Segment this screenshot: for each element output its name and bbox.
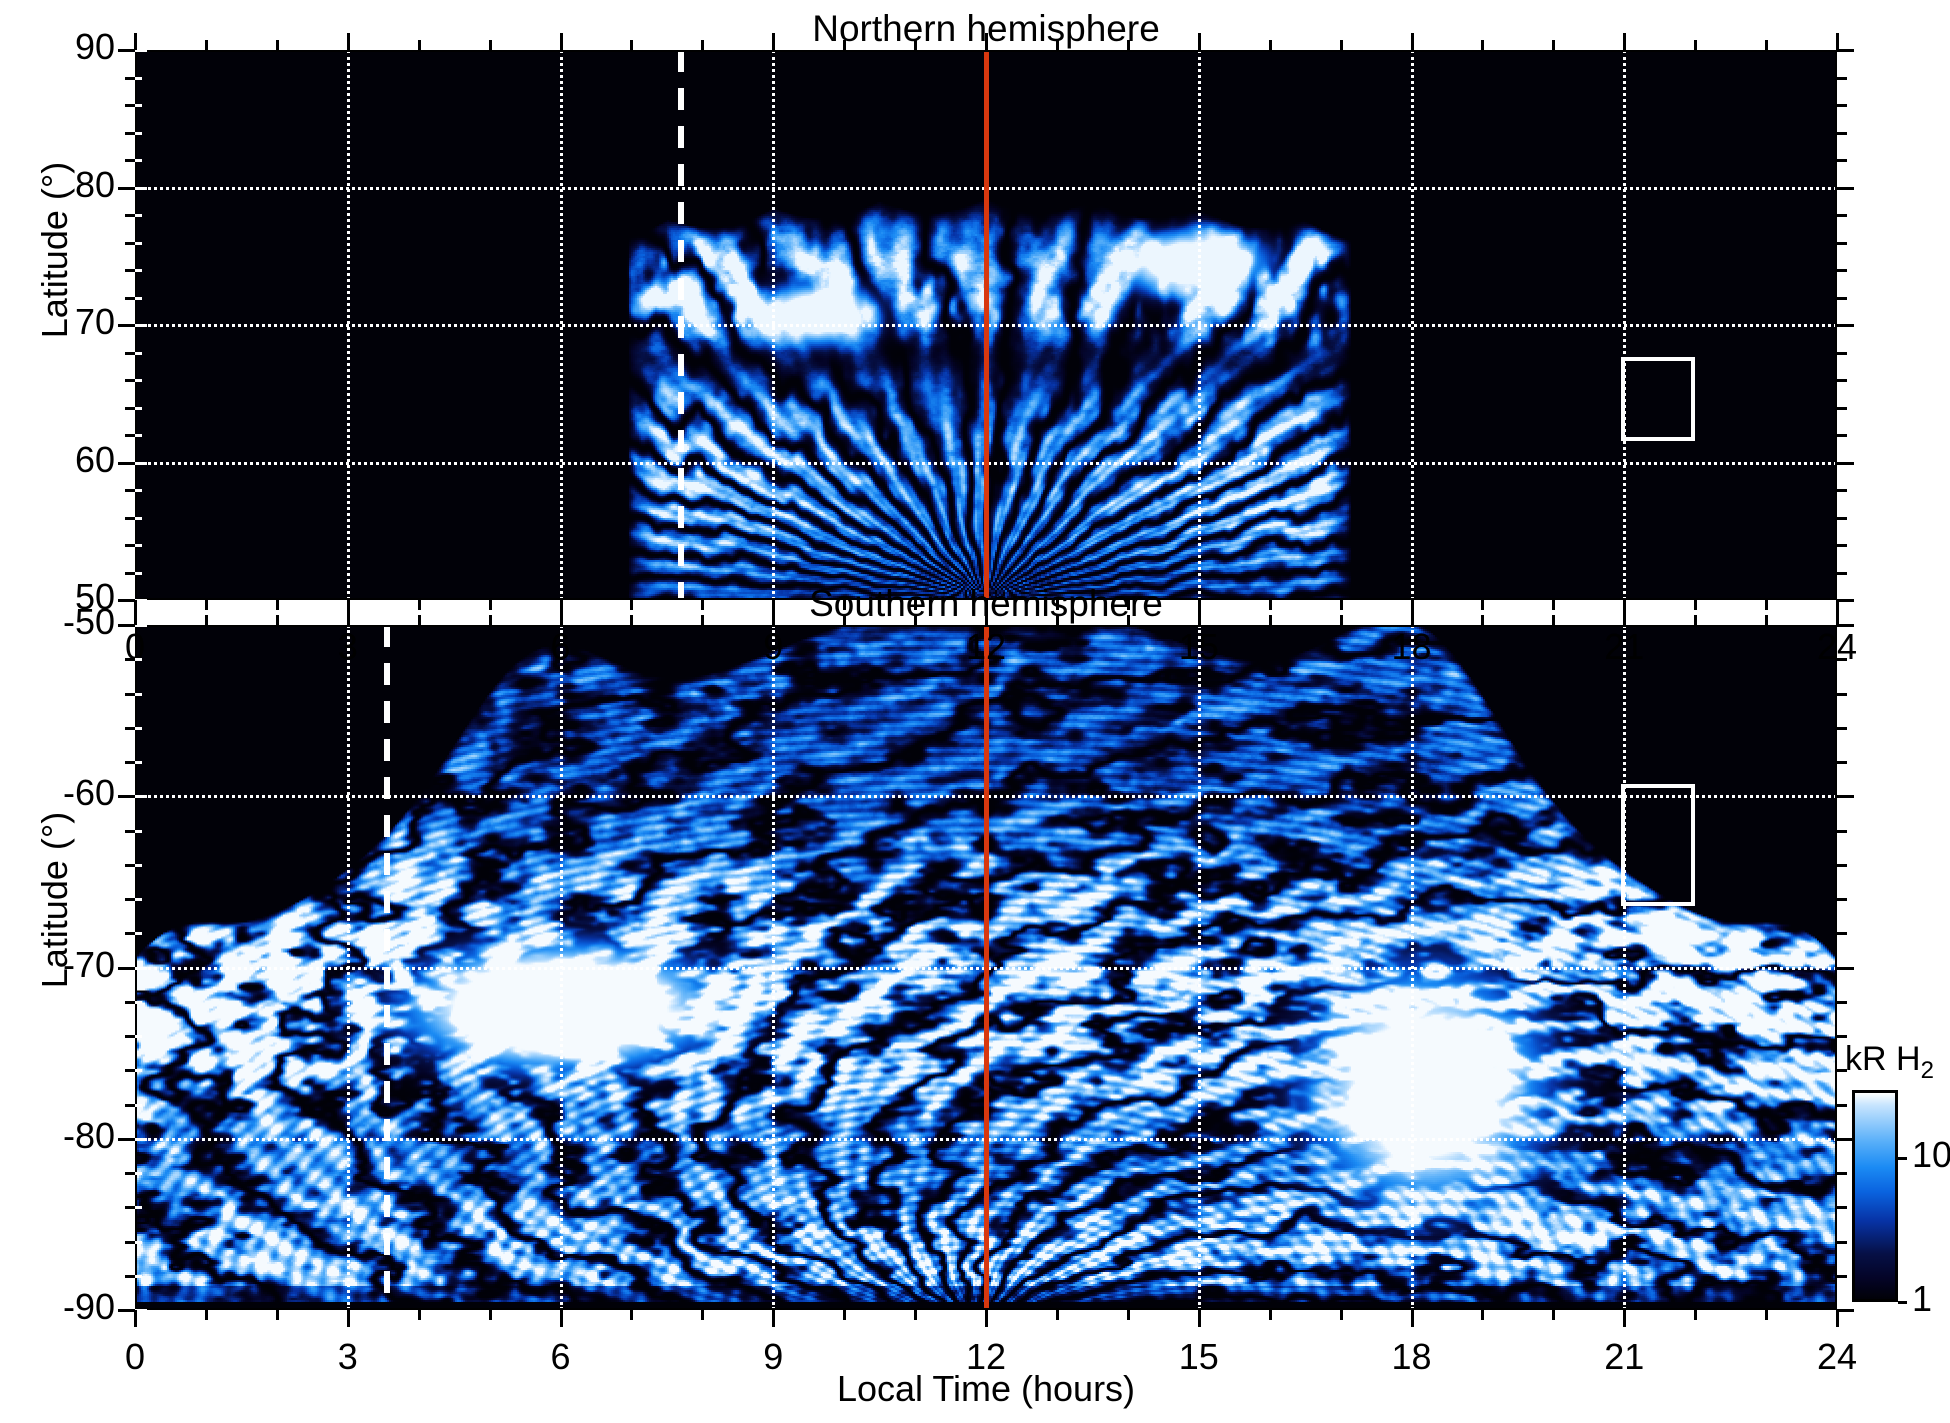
tick-x-major-top bbox=[985, 33, 988, 50]
tick-x-major-top bbox=[1198, 33, 1201, 50]
tick-x-minor-top bbox=[276, 40, 279, 50]
tick-y-minor bbox=[125, 1241, 135, 1244]
tick-y-minor-right bbox=[1837, 407, 1847, 410]
tick-x-minor bbox=[1056, 600, 1059, 610]
tick-y-inner bbox=[135, 132, 142, 135]
tick-y-minor-right bbox=[1837, 1206, 1847, 1209]
tick-x-minor-top bbox=[1552, 615, 1555, 625]
tick-x-minor-top bbox=[1552, 40, 1555, 50]
tick-y-inner bbox=[135, 407, 142, 410]
xtick-label: 15 bbox=[1139, 626, 1259, 668]
colorbar-tick-label: 10 bbox=[1912, 1134, 1950, 1176]
xtick-label: 21 bbox=[1564, 626, 1684, 668]
tick-y-minor bbox=[125, 544, 135, 547]
tick-x-minor-top bbox=[489, 615, 492, 625]
tick-y-inner bbox=[135, 352, 142, 355]
tick-y-minor-right bbox=[1837, 898, 1847, 901]
xtick-label: 21 bbox=[1564, 1336, 1684, 1378]
tick-y-minor bbox=[125, 104, 135, 107]
tick-x-major-top bbox=[1623, 33, 1626, 50]
tick-x-minor-top bbox=[1269, 40, 1272, 50]
tick-y-minor bbox=[125, 489, 135, 492]
tick-x-minor-top bbox=[276, 615, 279, 625]
tick-x-major-top bbox=[1411, 608, 1414, 625]
tick-y-inner bbox=[135, 489, 142, 492]
ytick-label: -70 bbox=[5, 944, 115, 986]
tick-x-minor bbox=[276, 1310, 279, 1320]
tick-y-minor-right bbox=[1837, 434, 1847, 437]
tick-y-inner bbox=[135, 1069, 142, 1072]
tick-y-minor bbox=[125, 1001, 135, 1004]
xtick-label: 6 bbox=[501, 1336, 621, 1378]
tick-x-major-top bbox=[1198, 608, 1201, 625]
tick-y-minor bbox=[125, 1172, 135, 1175]
tick-y-minor-right bbox=[1837, 77, 1847, 80]
tick-y-inner bbox=[135, 1001, 142, 1004]
tick-x-minor bbox=[914, 1310, 917, 1320]
tick-y-minor-right bbox=[1837, 658, 1847, 661]
tick-y-inner bbox=[135, 1275, 142, 1278]
tick-x-minor-top bbox=[843, 40, 846, 50]
tick-x-minor bbox=[1269, 1310, 1272, 1320]
tick-y-inner bbox=[135, 727, 142, 730]
colorbar-gradient bbox=[1852, 1090, 1898, 1302]
tick-y-minor bbox=[125, 269, 135, 272]
tick-y-minor bbox=[125, 1104, 135, 1107]
tick-y-minor-right bbox=[1837, 727, 1847, 730]
xtick-label: 24 bbox=[1777, 626, 1897, 668]
ytick-label: -50 bbox=[5, 601, 115, 643]
tick-y-inner bbox=[135, 1138, 147, 1141]
tick-x-minor-top bbox=[914, 40, 917, 50]
tick-y-inner bbox=[135, 830, 142, 833]
tick-x-minor bbox=[418, 600, 421, 610]
tick-y-major bbox=[118, 967, 135, 970]
tick-y-minor bbox=[125, 517, 135, 520]
tick-x-minor bbox=[630, 1310, 633, 1320]
tick-y-inner bbox=[135, 864, 142, 867]
tick-y-inner bbox=[135, 517, 142, 520]
tick-y-minor-right bbox=[1837, 932, 1847, 935]
xtick-label: 12 bbox=[926, 626, 1046, 668]
tick-y-inner bbox=[135, 297, 142, 300]
tick-x-major-top bbox=[985, 608, 988, 625]
tick-x-minor-top bbox=[205, 40, 208, 50]
colorbar-tick-label: 1 bbox=[1912, 1278, 1932, 1320]
ylabel-northern: Latitude (°) bbox=[34, 70, 76, 430]
tick-y-major bbox=[118, 324, 135, 327]
tick-y-inner bbox=[135, 932, 142, 935]
tick-y-major bbox=[118, 187, 135, 190]
tick-y-minor-right bbox=[1837, 297, 1847, 300]
tick-x-minor-top bbox=[205, 615, 208, 625]
tick-x-major bbox=[134, 1310, 137, 1327]
tick-y-minor bbox=[125, 898, 135, 901]
tick-x-minor bbox=[1552, 1310, 1555, 1320]
tick-y-inner bbox=[135, 544, 142, 547]
tick-y-minor bbox=[125, 864, 135, 867]
tick-x-minor-top bbox=[1127, 615, 1130, 625]
tick-x-minor bbox=[1694, 600, 1697, 610]
tick-x-minor bbox=[1340, 1310, 1343, 1320]
tick-x-major bbox=[772, 1310, 775, 1327]
tick-x-major-top bbox=[1836, 608, 1839, 625]
tick-y-minor bbox=[125, 352, 135, 355]
tick-x-major-top bbox=[772, 33, 775, 50]
tick-x-minor-top bbox=[1765, 40, 1768, 50]
tick-y-minor-right bbox=[1837, 693, 1847, 696]
tick-y-inner bbox=[135, 462, 147, 465]
tick-y-minor-right bbox=[1837, 1069, 1847, 1072]
terminator-line bbox=[678, 50, 684, 600]
tick-y-major-right bbox=[1837, 324, 1854, 327]
tick-x-minor-top bbox=[1481, 40, 1484, 50]
tick-y-major-right bbox=[1837, 624, 1854, 627]
ylabel-southern: Latitude (°) bbox=[34, 710, 76, 1090]
tick-y-inner bbox=[135, 324, 147, 327]
tick-y-major bbox=[118, 49, 135, 52]
tick-y-minor-right bbox=[1837, 1275, 1847, 1278]
tick-x-minor bbox=[1552, 600, 1555, 610]
tick-x-major-top bbox=[772, 608, 775, 625]
tick-y-inner bbox=[135, 898, 142, 901]
tick-y-major-right bbox=[1837, 967, 1854, 970]
tick-y-minor-right bbox=[1837, 830, 1847, 833]
tick-x-major-top bbox=[347, 33, 350, 50]
tick-y-minor-right bbox=[1837, 572, 1847, 575]
xtick-label: 15 bbox=[1139, 1336, 1259, 1378]
tick-x-minor bbox=[843, 1310, 846, 1320]
tick-y-inner bbox=[135, 379, 142, 382]
tick-y-inner bbox=[135, 434, 142, 437]
ytick-label: -60 bbox=[5, 772, 115, 814]
tick-y-minor-right bbox=[1837, 1104, 1847, 1107]
tick-x-major bbox=[1623, 1310, 1626, 1327]
tick-y-inner bbox=[135, 187, 147, 190]
tick-x-minor bbox=[1127, 1310, 1130, 1320]
tick-y-minor-right bbox=[1837, 379, 1847, 382]
tick-y-major-right bbox=[1837, 1309, 1854, 1312]
tick-y-minor-right bbox=[1837, 489, 1847, 492]
tick-x-minor bbox=[1694, 1310, 1697, 1320]
tick-y-major bbox=[118, 1138, 135, 1141]
tick-x-major bbox=[1836, 1310, 1839, 1327]
tick-y-minor bbox=[125, 693, 135, 696]
tick-x-minor-top bbox=[843, 615, 846, 625]
tick-y-major bbox=[118, 462, 135, 465]
roi-rectangle bbox=[1621, 357, 1695, 441]
tick-y-inner bbox=[135, 967, 147, 970]
tick-x-minor-top bbox=[1481, 615, 1484, 625]
tick-x-minor-top bbox=[701, 40, 704, 50]
colorbar-label-subscript: 2 bbox=[1921, 1057, 1934, 1084]
tick-x-minor bbox=[914, 600, 917, 610]
tick-x-minor-top bbox=[1340, 615, 1343, 625]
tick-y-major bbox=[118, 624, 135, 627]
tick-y-minor bbox=[125, 932, 135, 935]
terminator-line bbox=[384, 625, 390, 1310]
ytick-label: -80 bbox=[5, 1115, 115, 1157]
tick-y-minor bbox=[125, 434, 135, 437]
tick-y-inner bbox=[135, 693, 142, 696]
tick-y-minor bbox=[125, 297, 135, 300]
tick-x-minor-top bbox=[701, 615, 704, 625]
tick-y-minor-right bbox=[1837, 517, 1847, 520]
tick-x-minor-top bbox=[914, 615, 917, 625]
tick-y-minor bbox=[125, 242, 135, 245]
tick-x-minor bbox=[1481, 600, 1484, 610]
tick-y-minor bbox=[125, 407, 135, 410]
tick-y-minor-right bbox=[1837, 269, 1847, 272]
tick-y-minor bbox=[125, 214, 135, 217]
tick-x-major-top bbox=[347, 608, 350, 625]
xtick-label: 6 bbox=[501, 626, 621, 668]
tick-y-minor-right bbox=[1837, 214, 1847, 217]
tick-x-minor bbox=[1269, 600, 1272, 610]
tick-x-minor bbox=[489, 600, 492, 610]
roi-rectangle bbox=[1621, 784, 1695, 906]
tick-x-minor-top bbox=[1127, 40, 1130, 50]
tick-x-minor bbox=[489, 1310, 492, 1320]
tick-y-minor-right bbox=[1837, 1241, 1847, 1244]
tick-y-minor-right bbox=[1837, 242, 1847, 245]
tick-y-minor-right bbox=[1837, 1035, 1847, 1038]
tick-y-minor-right bbox=[1837, 864, 1847, 867]
tick-y-inner bbox=[135, 104, 142, 107]
tick-y-inner bbox=[135, 159, 142, 162]
xtick-label: 3 bbox=[288, 626, 408, 668]
tick-x-minor-top bbox=[1056, 40, 1059, 50]
plot-area-northern bbox=[135, 50, 1837, 600]
tick-y-major-right bbox=[1837, 187, 1854, 190]
tick-x-major bbox=[347, 1310, 350, 1327]
tick-y-major-right bbox=[1837, 599, 1854, 602]
xtick-label: 24 bbox=[1777, 1336, 1897, 1378]
tick-y-minor bbox=[125, 761, 135, 764]
tick-x-major-top bbox=[1623, 608, 1626, 625]
tick-y-minor bbox=[125, 132, 135, 135]
tick-x-minor bbox=[701, 1310, 704, 1320]
ytick-label: 60 bbox=[5, 439, 115, 481]
tick-y-inner bbox=[135, 269, 142, 272]
tick-x-minor-top bbox=[418, 615, 421, 625]
tick-y-minor bbox=[125, 830, 135, 833]
ytick-label: 90 bbox=[5, 26, 115, 68]
tick-y-inner bbox=[135, 795, 147, 798]
tick-x-minor bbox=[630, 600, 633, 610]
tick-x-major bbox=[560, 1310, 563, 1327]
tick-x-major-top bbox=[560, 608, 563, 625]
colorbar-label-text: kR H bbox=[1845, 1040, 1921, 1078]
tick-x-major bbox=[1198, 1310, 1201, 1327]
tick-y-minor bbox=[125, 572, 135, 575]
ytick-label: 70 bbox=[5, 301, 115, 343]
tick-y-minor-right bbox=[1837, 132, 1847, 135]
tick-y-inner bbox=[135, 1241, 142, 1244]
tick-y-minor-right bbox=[1837, 352, 1847, 355]
tick-y-inner bbox=[135, 1035, 142, 1038]
xtick-label: 9 bbox=[713, 626, 833, 668]
tick-y-inner bbox=[135, 761, 142, 764]
tick-x-minor bbox=[418, 1310, 421, 1320]
tick-x-minor-top bbox=[489, 40, 492, 50]
tick-x-major-top bbox=[134, 33, 137, 50]
tick-y-major bbox=[118, 1309, 135, 1312]
tick-y-inner bbox=[135, 1172, 142, 1175]
tick-y-minor bbox=[125, 1275, 135, 1278]
tick-x-minor bbox=[1056, 1310, 1059, 1320]
tick-x-minor bbox=[1340, 600, 1343, 610]
tick-x-minor bbox=[205, 1310, 208, 1320]
colorbar-tick bbox=[1898, 1157, 1907, 1160]
noon-line bbox=[984, 625, 989, 1310]
tick-x-minor-top bbox=[1694, 40, 1697, 50]
ytick-label: -90 bbox=[5, 1286, 115, 1328]
tick-y-inner bbox=[135, 1206, 142, 1209]
tick-y-minor bbox=[125, 159, 135, 162]
tick-x-minor bbox=[1765, 600, 1768, 610]
figure-root: Northern hemisphere Latitude (°) Local T… bbox=[0, 0, 1950, 1423]
tick-x-minor bbox=[276, 600, 279, 610]
tick-x-minor bbox=[843, 600, 846, 610]
tick-x-major-top bbox=[1411, 33, 1414, 50]
tick-y-minor bbox=[125, 1035, 135, 1038]
tick-y-inner bbox=[135, 214, 142, 217]
plot-area-southern bbox=[135, 625, 1837, 1310]
tick-y-minor bbox=[125, 727, 135, 730]
tick-y-major-right bbox=[1837, 462, 1854, 465]
tick-y-minor bbox=[125, 1206, 135, 1209]
tick-y-minor bbox=[125, 77, 135, 80]
xtick-label: 18 bbox=[1352, 626, 1472, 668]
tick-y-major bbox=[118, 795, 135, 798]
tick-y-inner bbox=[135, 242, 142, 245]
tick-y-major-right bbox=[1837, 49, 1854, 52]
tick-x-major bbox=[1411, 1310, 1414, 1327]
tick-x-minor bbox=[205, 600, 208, 610]
tick-y-inner bbox=[135, 1104, 142, 1107]
tick-x-minor-top bbox=[1340, 40, 1343, 50]
tick-y-inner bbox=[135, 77, 142, 80]
tick-x-minor bbox=[701, 600, 704, 610]
tick-x-major-top bbox=[1836, 33, 1839, 50]
tick-y-minor bbox=[125, 1069, 135, 1072]
tick-y-minor-right bbox=[1837, 1172, 1847, 1175]
tick-x-minor-top bbox=[1269, 615, 1272, 625]
tick-y-major-right bbox=[1837, 1138, 1854, 1141]
tick-x-minor-top bbox=[630, 40, 633, 50]
xtick-label: 12 bbox=[926, 1336, 1046, 1378]
tick-y-minor-right bbox=[1837, 544, 1847, 547]
tick-x-minor-top bbox=[1765, 615, 1768, 625]
tick-x-minor bbox=[1481, 1310, 1484, 1320]
tick-x-minor bbox=[1765, 1310, 1768, 1320]
tick-x-minor-top bbox=[1694, 615, 1697, 625]
tick-y-major bbox=[118, 599, 135, 602]
tick-x-minor-top bbox=[418, 40, 421, 50]
xtick-label: 0 bbox=[75, 1336, 195, 1378]
tick-y-minor-right bbox=[1837, 761, 1847, 764]
ytick-label: 80 bbox=[5, 164, 115, 206]
xtick-label: 3 bbox=[288, 1336, 408, 1378]
tick-y-minor bbox=[125, 658, 135, 661]
colorbar-label: kR H2 bbox=[1845, 1040, 1934, 1085]
xtick-label: 18 bbox=[1352, 1336, 1472, 1378]
tick-x-major bbox=[985, 1310, 988, 1327]
tick-y-major-right bbox=[1837, 795, 1854, 798]
tick-y-minor-right bbox=[1837, 104, 1847, 107]
tick-y-inner bbox=[135, 658, 142, 661]
noon-line bbox=[984, 50, 989, 600]
tick-x-minor-top bbox=[630, 615, 633, 625]
tick-x-minor bbox=[1127, 600, 1130, 610]
tick-y-inner bbox=[135, 572, 142, 575]
tick-y-minor-right bbox=[1837, 159, 1847, 162]
xtick-label: 9 bbox=[713, 1336, 833, 1378]
tick-y-minor bbox=[125, 379, 135, 382]
tick-x-major-top bbox=[134, 608, 137, 625]
tick-x-minor-top bbox=[1056, 615, 1059, 625]
tick-x-major-top bbox=[560, 33, 563, 50]
tick-y-minor-right bbox=[1837, 1001, 1847, 1004]
colorbar-tick bbox=[1898, 1301, 1907, 1304]
